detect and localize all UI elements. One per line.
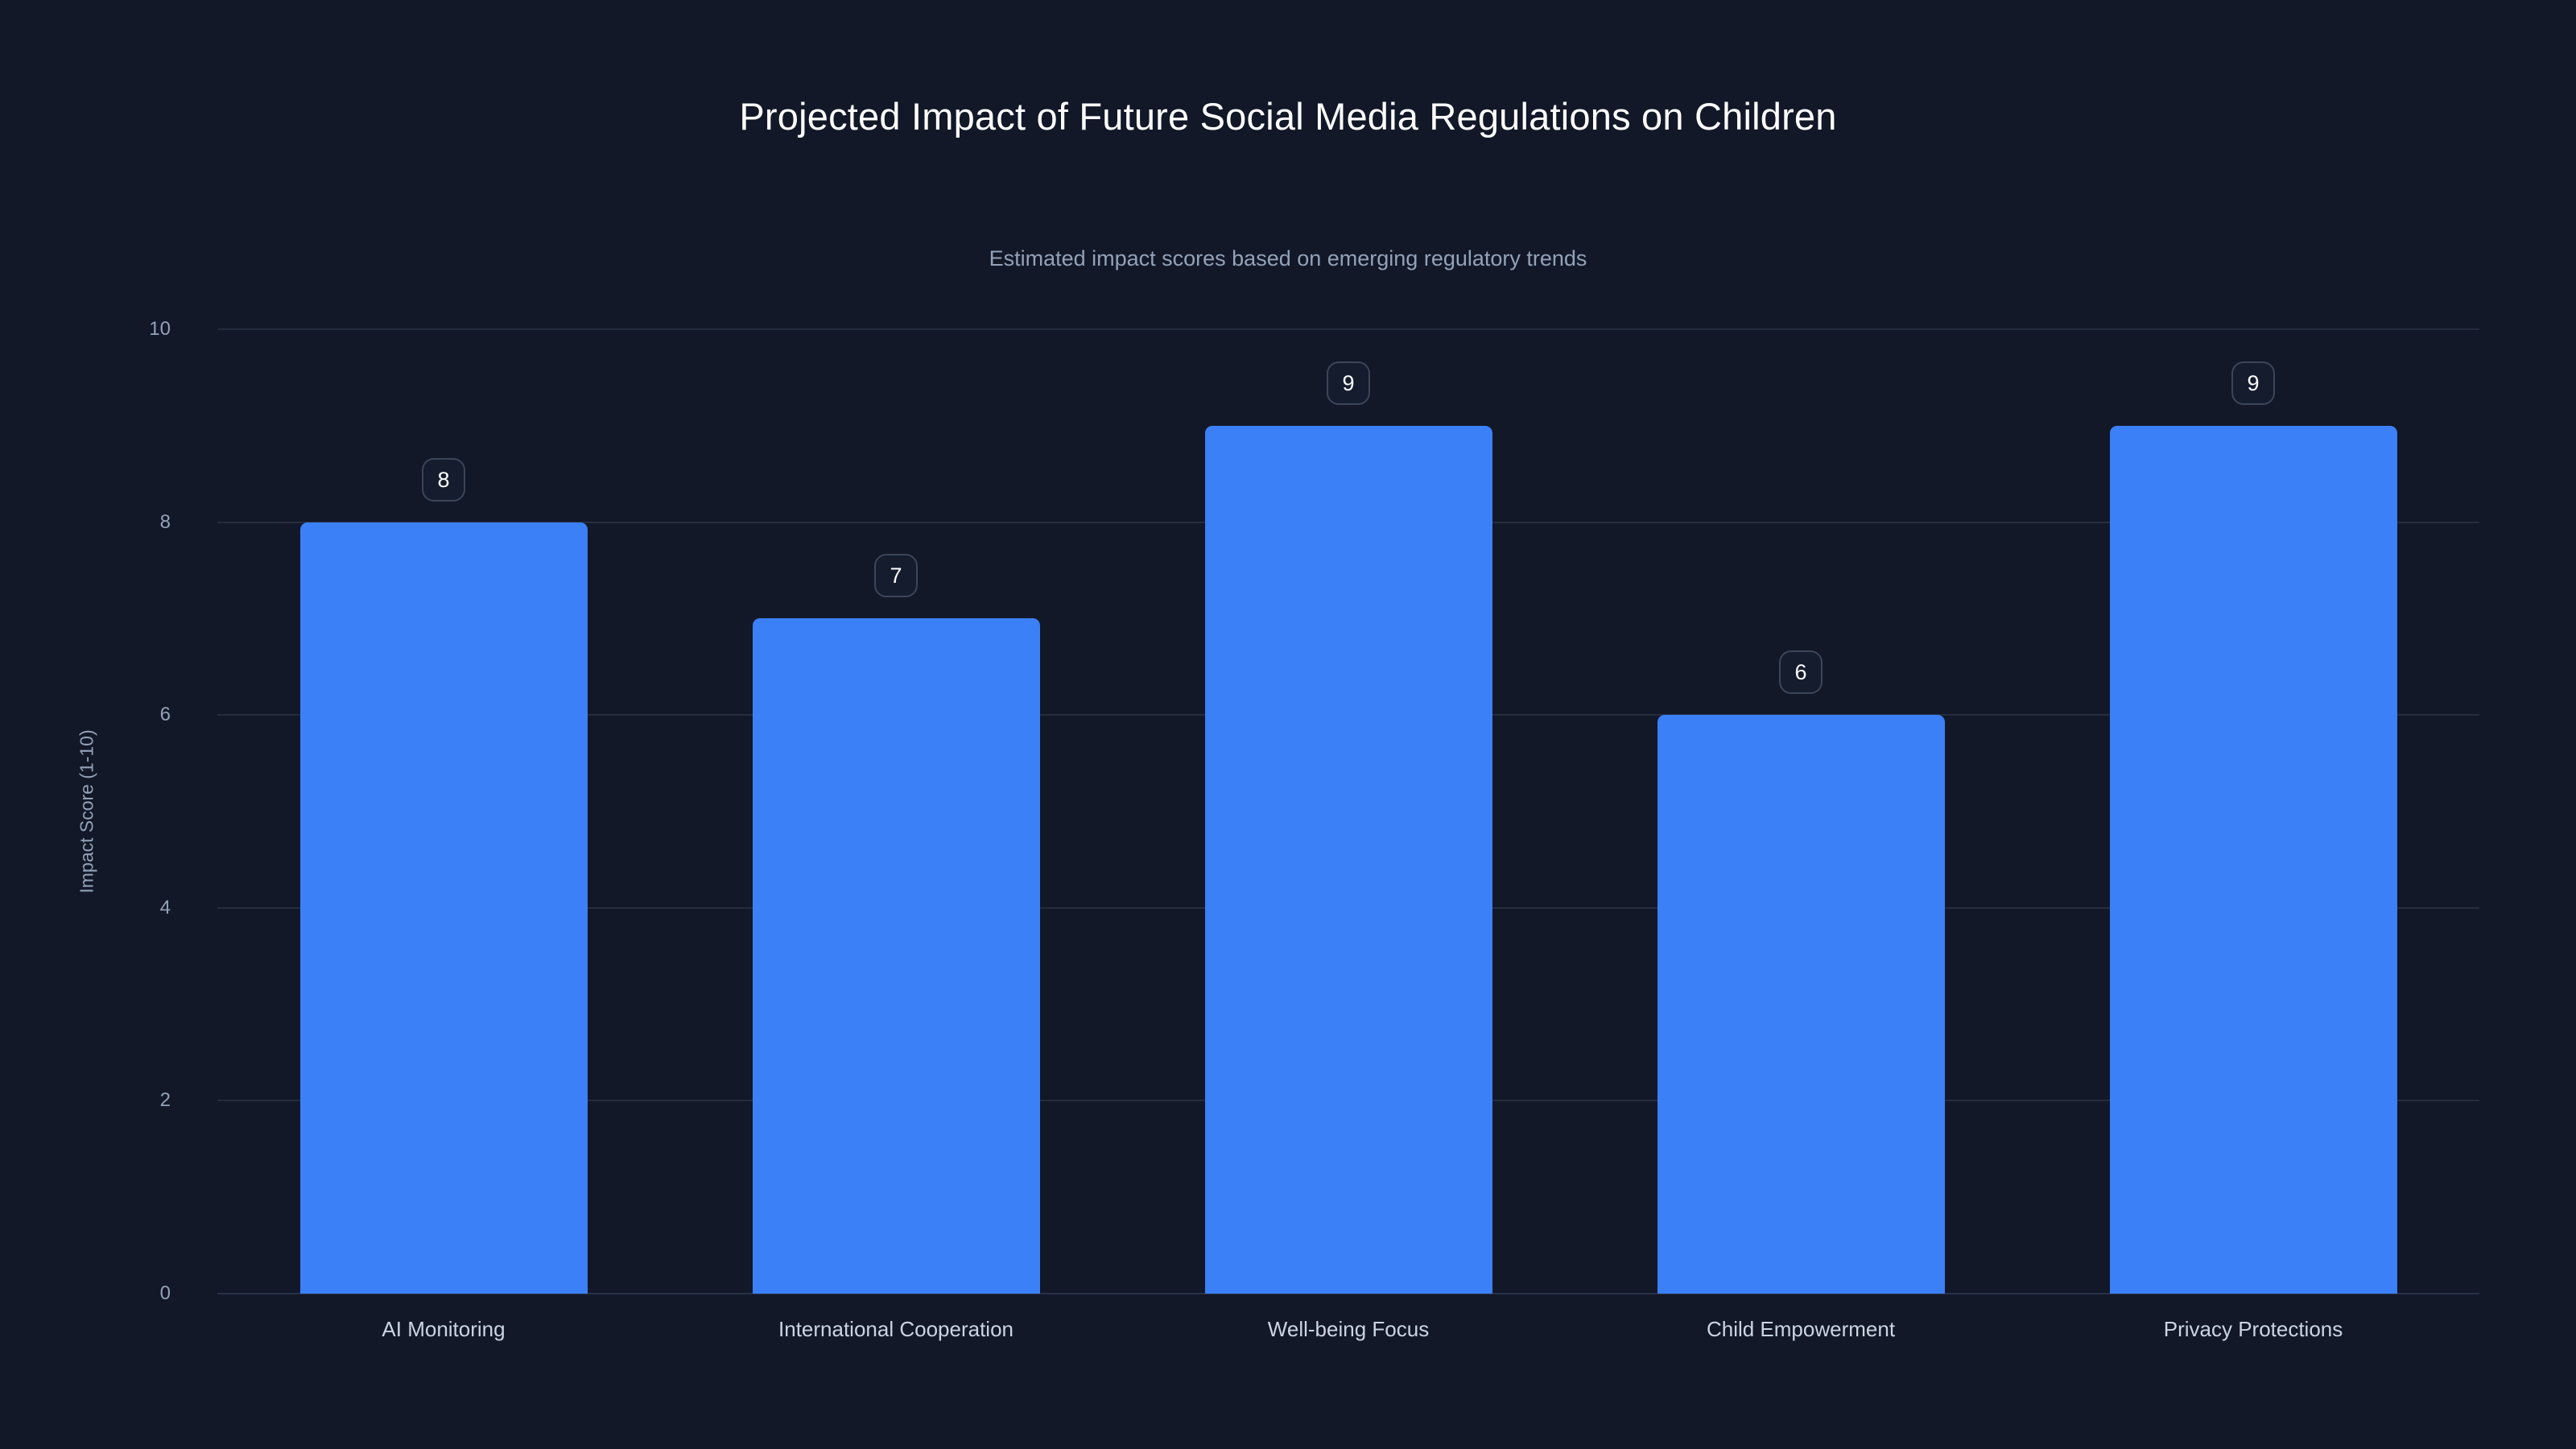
chart-subtitle: Estimated impact scores based on emergin… xyxy=(0,246,2576,271)
bar[interactable] xyxy=(2110,426,2397,1294)
x-axis-tick-label: Privacy Protections xyxy=(2164,1319,2343,1340)
chart-title: Projected Impact of Future Social Media … xyxy=(0,95,2576,138)
gridline xyxy=(217,328,2479,330)
y-axis-tick-label: 6 xyxy=(160,705,171,724)
bar-value-badge: 9 xyxy=(1327,361,1370,405)
y-axis-tick-label: 10 xyxy=(149,320,171,339)
bar-chart: Projected Impact of Future Social Media … xyxy=(0,0,2576,1449)
x-axis-tick-label: AI Monitoring xyxy=(382,1319,505,1340)
plot-area xyxy=(217,329,2479,1294)
bar-slot xyxy=(753,329,1040,1294)
y-axis-tick-labels: 0246810 xyxy=(0,329,193,1294)
bar-slot xyxy=(1205,329,1492,1294)
bar-value-badge: 6 xyxy=(1779,650,1823,694)
bar-value-badge: 8 xyxy=(422,458,465,502)
bar[interactable] xyxy=(300,522,588,1294)
bar[interactable] xyxy=(1205,426,1492,1294)
bar-value-badge: 9 xyxy=(2231,361,2275,405)
bar-value-badge: 7 xyxy=(874,554,918,597)
bar-slot xyxy=(2110,329,2397,1294)
bar-slot xyxy=(1657,329,1945,1294)
x-axis-tick-label: International Cooperation xyxy=(778,1319,1013,1340)
bar[interactable] xyxy=(753,618,1040,1294)
x-axis-tick-label: Child Empowerment xyxy=(1707,1319,1895,1340)
y-axis-tick-label: 2 xyxy=(160,1091,171,1110)
y-axis-tick-label: 4 xyxy=(160,898,171,918)
bar[interactable] xyxy=(1657,715,1945,1294)
y-axis-tick-label: 8 xyxy=(160,513,171,532)
y-axis-tick-label: 0 xyxy=(160,1284,171,1303)
x-axis-tick-label: Well-being Focus xyxy=(1268,1319,1429,1340)
